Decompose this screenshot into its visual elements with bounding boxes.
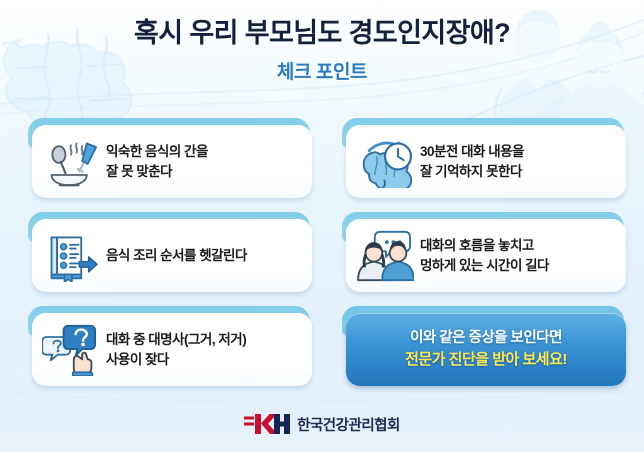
bowl-spoon-salt-icon	[40, 133, 102, 191]
symptom-card-2-line2: 잘 기억하지 못한다	[420, 162, 524, 181]
symptom-card-2-line1: 30분전 대화 내용을	[420, 142, 524, 161]
symptom-card-3[interactable]: 음식 조리 순서를 헷갈린다	[22, 212, 312, 292]
symptom-card-4[interactable]: 대화의 호름을 놓치고 멍하게 있는 시간이 길다	[336, 212, 626, 292]
organization-name: 한국건강관리협회	[297, 414, 400, 435]
symptom-card-2-text: 30분전 대화 내용을 잘 기억하지 못한다	[416, 142, 524, 180]
symptom-card-1[interactable]: 익숙한 음식의 간을 잘 못 맞춘다	[22, 118, 312, 198]
cta-card[interactable]: 이와 같은 증상을 보인다면 전문가 진단을 받아 보세요!	[336, 306, 626, 386]
symptom-card-1-line1: 익숙한 음식의 간을	[106, 142, 208, 161]
symptom-card-5[interactable]: 대화 중 대명사(그거, 저거) 사용이 잦다	[22, 306, 312, 386]
symptom-card-1-text: 익숙한 음식의 간을 잘 못 맞춘다	[102, 142, 208, 180]
poster-header: 혹시 우리 부모님도 경도인지장애? 체크 포인트	[0, 18, 644, 84]
symptom-card-4-text: 대화의 호름을 놓치고 멍하게 있는 시간이 길다	[416, 236, 549, 274]
symptom-card-4-line1: 대화의 호름을 놓치고	[420, 236, 549, 255]
symptom-card-5-line2: 사용이 잦다	[106, 350, 246, 369]
symptom-card-2[interactable]: 30분전 대화 내용을 잘 기억하지 못한다	[336, 118, 626, 198]
symptom-card-3-text: 음식 조리 순서를 헷갈린다	[102, 246, 247, 265]
symptom-card-4-line2: 멍하게 있는 시간이 길다	[420, 256, 549, 275]
symptom-card-5-text: 대화 중 대명사(그거, 저거) 사용이 잦다	[102, 330, 246, 368]
symptom-card-1-line2: 잘 못 맞춘다	[106, 162, 208, 181]
infographic-poster: 혹시 우리 부모님도 경도인지장애? 체크 포인트	[0, 0, 644, 452]
cta-line1: 이와 같은 증상을 보인다면	[410, 329, 562, 349]
brain-clock-icon	[354, 133, 416, 191]
recipe-book-arrow-icon	[40, 227, 102, 285]
cta-line2: 전문가 진단을 받아 보세요!	[405, 350, 567, 370]
symptom-card-3-line1: 음식 조리 순서를 헷갈린다	[106, 246, 247, 265]
symptom-card-grid: 익숙한 음식의 간을 잘 못 맞춘다	[22, 118, 626, 386]
two-people-speech-bubble-icon	[354, 227, 416, 285]
question-bubbles-hand-icon	[40, 321, 102, 379]
page-subtitle: 체크 포인트	[0, 57, 644, 84]
page-title: 혹시 우리 부모님도 경도인지장애?	[0, 18, 644, 50]
kh-logo-icon	[244, 413, 290, 435]
symptom-card-5-line1: 대화 중 대명사(그거, 저거)	[106, 330, 246, 349]
footer: 한국건강관리협회	[0, 413, 644, 435]
